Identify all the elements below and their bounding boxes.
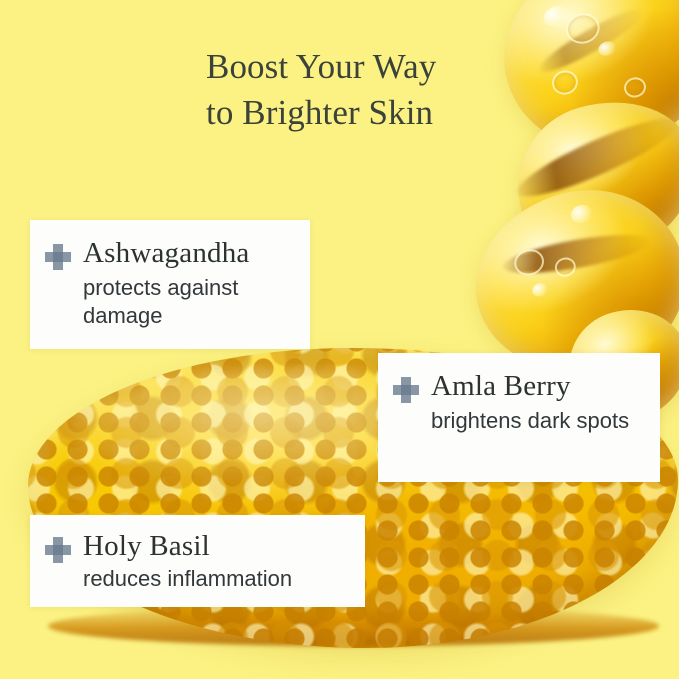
page-title: Boost Your Way to Brighter Skin — [206, 44, 536, 135]
benefit-card-ashwagandha: Ashwagandha protects against damage — [30, 220, 310, 349]
product-benefit-infographic: Boost Your Way to Brighter Skin Ashwagan… — [0, 0, 679, 679]
benefit-description: brightens dark spots — [431, 407, 644, 435]
benefit-card-amla-berry: Amla Berry brightens dark spots — [378, 353, 660, 482]
plus-icon — [45, 537, 71, 563]
benefit-title: Holy Basil — [83, 531, 210, 562]
benefit-card-header: Amla Berry — [393, 371, 644, 403]
benefit-card-holy-basil: Holy Basil reduces inflammation — [30, 515, 365, 607]
plus-icon — [45, 244, 71, 270]
benefit-title: Ashwagandha — [83, 238, 250, 269]
benefit-description: protects against damage — [83, 274, 294, 329]
benefit-description: reduces inflammation — [83, 565, 351, 593]
benefit-card-header: Holy Basil — [45, 531, 351, 563]
benefit-card-header: Ashwagandha — [45, 238, 294, 270]
plus-icon — [393, 377, 419, 403]
headline-line-2: to Brighter Skin — [206, 90, 536, 136]
benefit-title: Amla Berry — [431, 371, 571, 402]
headline-line-1: Boost Your Way — [206, 47, 436, 86]
